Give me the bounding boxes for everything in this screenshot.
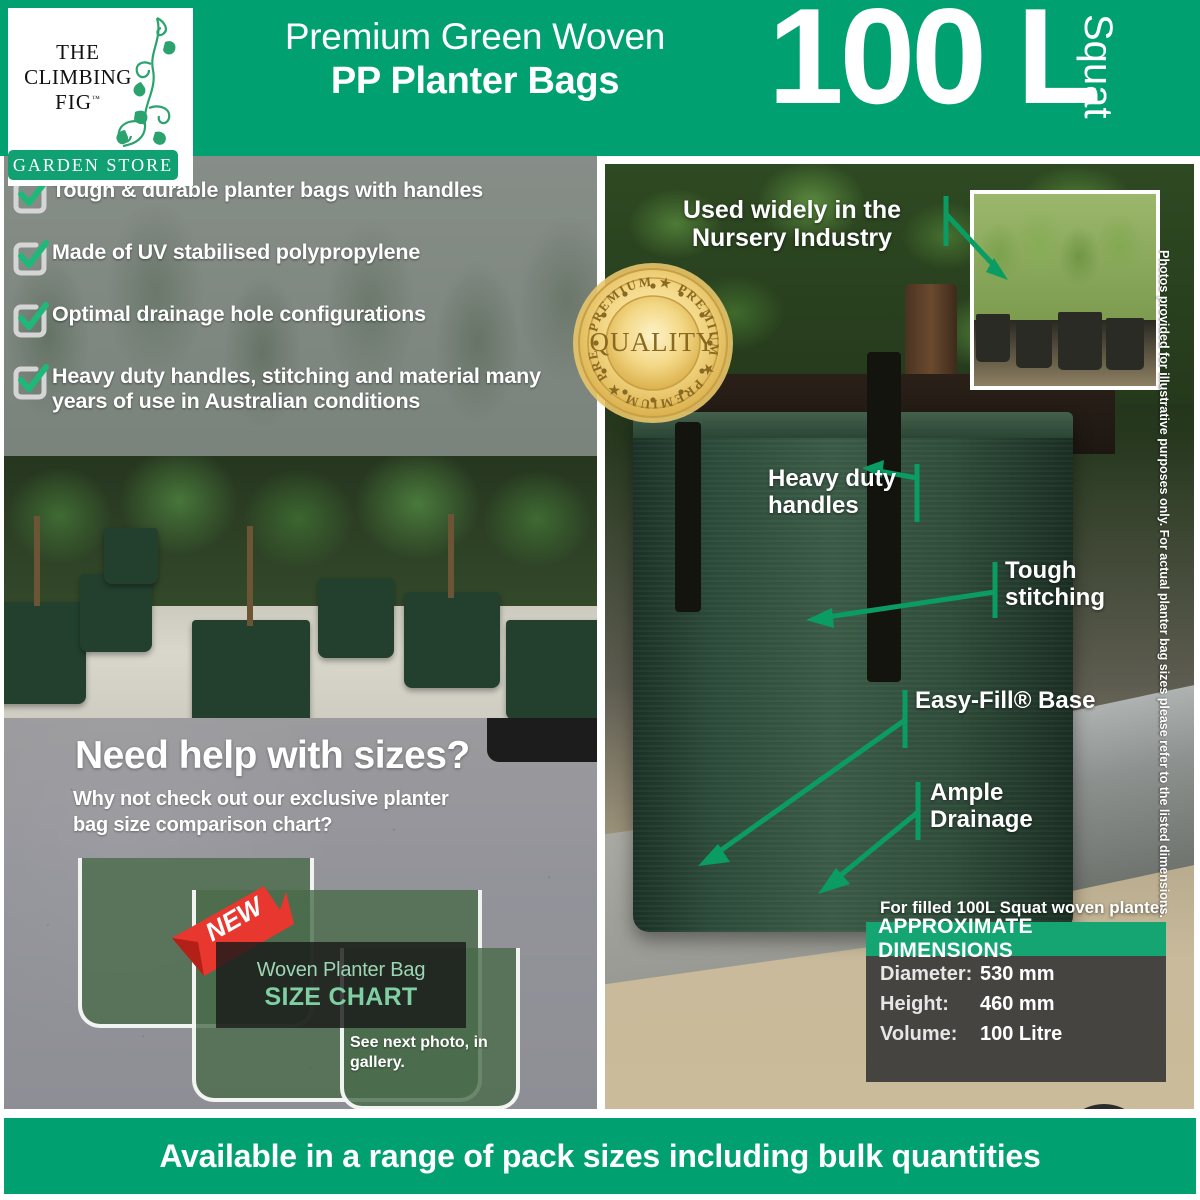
footer-divider xyxy=(0,1109,1200,1118)
feature-label: Optimal drainage hole configurations xyxy=(52,298,426,327)
annotation-heavy-duty-handles: Heavy duty handles xyxy=(768,466,896,520)
inset-bag xyxy=(1016,320,1052,368)
product-infographic: THE CLIMBING FIG™ xyxy=(0,0,1200,1200)
features-panel: Tough & durable planter bags with handle… xyxy=(0,156,597,456)
dimensions-key: Diameter: xyxy=(880,963,980,986)
nursery-trunk xyxy=(34,516,40,606)
annotation-stitching-line2: stitching xyxy=(1005,585,1105,612)
photo-disclaimer: Photos provided for illustrative purpose… xyxy=(1157,250,1171,918)
shape-badge: Squat xyxy=(1075,14,1120,119)
feature-item: Made of UV stabilised polypropylene xyxy=(10,236,590,278)
volume-badge: 100 L xyxy=(768,0,1096,124)
nursery-bag xyxy=(80,574,152,652)
annotation-drainage-line1: Ample xyxy=(930,780,1033,807)
feature-label: Heavy duty handles, stitching and materi… xyxy=(52,360,590,415)
product-title-line2: PP Planter Bags xyxy=(195,59,755,105)
background-pot xyxy=(487,718,597,762)
annotation-nursery-line2: Nursery Industry xyxy=(672,224,912,252)
inset-bag xyxy=(1106,318,1144,370)
checkbox-tick-icon xyxy=(10,300,52,340)
see-next-photo-note: See next photo, in gallery. xyxy=(350,1033,540,1073)
annotation-stitching-line1: Tough xyxy=(1005,558,1105,585)
annotation-handles-line1: Heavy duty xyxy=(768,466,896,493)
product-title: Premium Green Woven PP Planter Bags xyxy=(195,16,755,104)
annotation-handles-line2: handles xyxy=(768,493,896,520)
nursery-trunk xyxy=(247,526,253,626)
inset-nursery-photo xyxy=(970,190,1160,390)
annotation-easy-fill-base: Easy-Fill® Base xyxy=(915,688,1095,715)
dimensions-value: 530 mm xyxy=(980,963,1055,986)
garden-store-badge: GARDEN STORE xyxy=(8,150,178,180)
annotation-drainage-line2: Drainage xyxy=(930,807,1033,834)
nursery-bag xyxy=(506,620,597,718)
nursery-bag xyxy=(104,528,158,584)
feature-label: Made of UV stabilised polypropylene xyxy=(52,236,420,265)
annotation-ample-drainage: Ample Drainage xyxy=(930,780,1033,834)
nursery-bag xyxy=(404,592,500,688)
inset-canopy xyxy=(974,194,1156,320)
nursery-bag xyxy=(192,620,310,718)
annotation-nursery: Used widely in the Nursery Industry xyxy=(672,196,912,252)
annotation-tough-stitching: Tough stitching xyxy=(1005,558,1105,612)
left-edge xyxy=(0,156,4,1116)
feature-item: Heavy duty handles, stitching and materi… xyxy=(10,360,590,415)
nursery-trunk xyxy=(448,514,454,598)
nursery-bag xyxy=(0,602,86,704)
footer-text: Available in a range of pack sizes inclu… xyxy=(159,1138,1040,1175)
size-chart-callout-top: Woven Planter Bag xyxy=(257,959,426,982)
size-chart-callout[interactable]: Woven Planter Bag SIZE CHART xyxy=(216,942,466,1028)
seal-center-text: QUALITY xyxy=(590,327,717,357)
dimensions-table: APPROXIMATE DIMENSIONS Diameter: 530 mm … xyxy=(866,922,1166,1082)
dimensions-value: 100 Litre xyxy=(980,1023,1062,1046)
checkbox-tick-icon xyxy=(10,238,52,278)
dimensions-row: Height: 460 mm xyxy=(866,986,1166,1016)
inset-bag xyxy=(976,314,1010,362)
size-chart-callout-bottom: SIZE CHART xyxy=(265,983,418,1012)
fig-vine-icon xyxy=(99,12,189,156)
size-help-subtitle: Why not check out our exclusive planter … xyxy=(73,786,473,838)
features-list: Tough & durable planter bags with handle… xyxy=(10,174,590,415)
dimensions-key: Volume: xyxy=(880,1023,980,1046)
dimensions-row: Volume: 100 Litre xyxy=(866,1016,1166,1046)
annotation-nursery-line1: Used widely in the xyxy=(672,196,912,224)
size-help-title: Need help with sizes? xyxy=(75,734,470,778)
footer-banner: Available in a range of pack sizes inclu… xyxy=(4,1118,1196,1194)
nursery-rows-photo xyxy=(0,456,597,718)
premium-quality-seal: PREMIUM ★ PREMIUM ★ PREMIUM ★ PREMIUM ★ … xyxy=(568,258,738,428)
dimensions-value: 460 mm xyxy=(980,993,1055,1016)
nursery-bag xyxy=(318,578,394,658)
right-edge xyxy=(1194,156,1200,1116)
inset-bag xyxy=(1058,312,1102,370)
planter-bag-handle xyxy=(675,422,701,612)
product-title-line1: Premium Green Woven xyxy=(195,16,755,59)
dimensions-key: Height: xyxy=(880,993,980,1016)
feature-item: Optimal drainage hole configurations xyxy=(10,298,590,340)
checkbox-tick-icon xyxy=(10,362,52,402)
dimensions-heading: APPROXIMATE DIMENSIONS xyxy=(866,922,1166,956)
